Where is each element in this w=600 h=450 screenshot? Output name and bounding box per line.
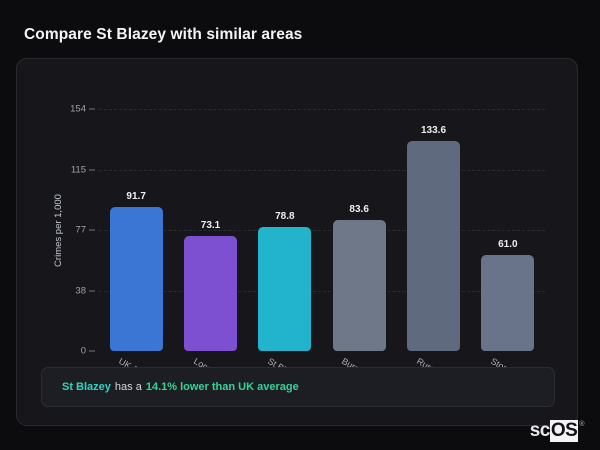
bar-value-label: 91.7: [126, 191, 145, 202]
insight-middle-text: has a: [115, 381, 142, 393]
bar-value-label: 73.1: [201, 220, 220, 231]
logo-prefix: sc: [530, 420, 550, 442]
bar-slot: 73.1Local Area: [184, 109, 237, 351]
bar-slot: 91.7UK Average: [110, 109, 163, 351]
bar[interactable]: [184, 236, 237, 351]
gridline: [99, 109, 545, 110]
bar-slot: 133.6Rural Wyre...: [407, 109, 460, 351]
y-axis-tick-mark: [89, 351, 95, 352]
gridline: [99, 291, 545, 292]
bar[interactable]: [333, 220, 386, 351]
bar-value-label: 83.6: [349, 204, 368, 215]
y-axis-tick-label: 0: [81, 346, 86, 357]
bar[interactable]: [258, 227, 311, 351]
y-axis-tick-mark: [89, 230, 95, 231]
logo-highlight: OS: [550, 420, 578, 442]
chart-card: Crimes per 1,000 03877115154 91.7UK Aver…: [16, 58, 578, 426]
y-axis-title: Crimes per 1,000: [51, 109, 65, 351]
y-axis-tick-mark: [89, 170, 95, 171]
registered-trademark-icon: ®: [579, 421, 584, 428]
insight-banner: St Blazey has a 14.1% lower than UK aver…: [41, 367, 555, 407]
insight-comparison-text: 14.1% lower than UK average: [146, 381, 299, 393]
gridline: [99, 170, 545, 171]
bar[interactable]: [407, 141, 460, 351]
bar[interactable]: [481, 255, 534, 351]
y-axis-tick-label: 154: [70, 104, 86, 115]
y-axis-tick-label: 115: [71, 165, 86, 176]
y-axis-title-label: Crimes per 1,000: [53, 194, 64, 267]
page-title: Compare St Blazey with similar areas: [24, 26, 302, 44]
y-axis-tick-label: 38: [75, 286, 86, 297]
bar-value-label: 133.6: [421, 125, 446, 136]
bar-slot: 83.6Bursledon: [333, 109, 386, 351]
gridline: [99, 230, 545, 231]
y-axis-tick-mark: [89, 291, 95, 292]
y-axis-tick-label: 77: [75, 225, 86, 236]
insight-area-name: St Blazey: [62, 381, 111, 393]
y-axis-tick-mark: [89, 109, 95, 110]
bar-chart-plot-area: 03877115154 91.7UK Average73.1Local Area…: [99, 109, 545, 351]
bar[interactable]: [110, 207, 163, 351]
bar-slot: 61.0Stone (Dar...: [481, 109, 534, 351]
bar-value-label: 78.8: [275, 211, 294, 222]
scos-logo: sc OS ®: [530, 420, 584, 442]
bar-slot: 78.8St Blazey: [258, 109, 311, 351]
bar-value-label: 61.0: [498, 239, 517, 250]
